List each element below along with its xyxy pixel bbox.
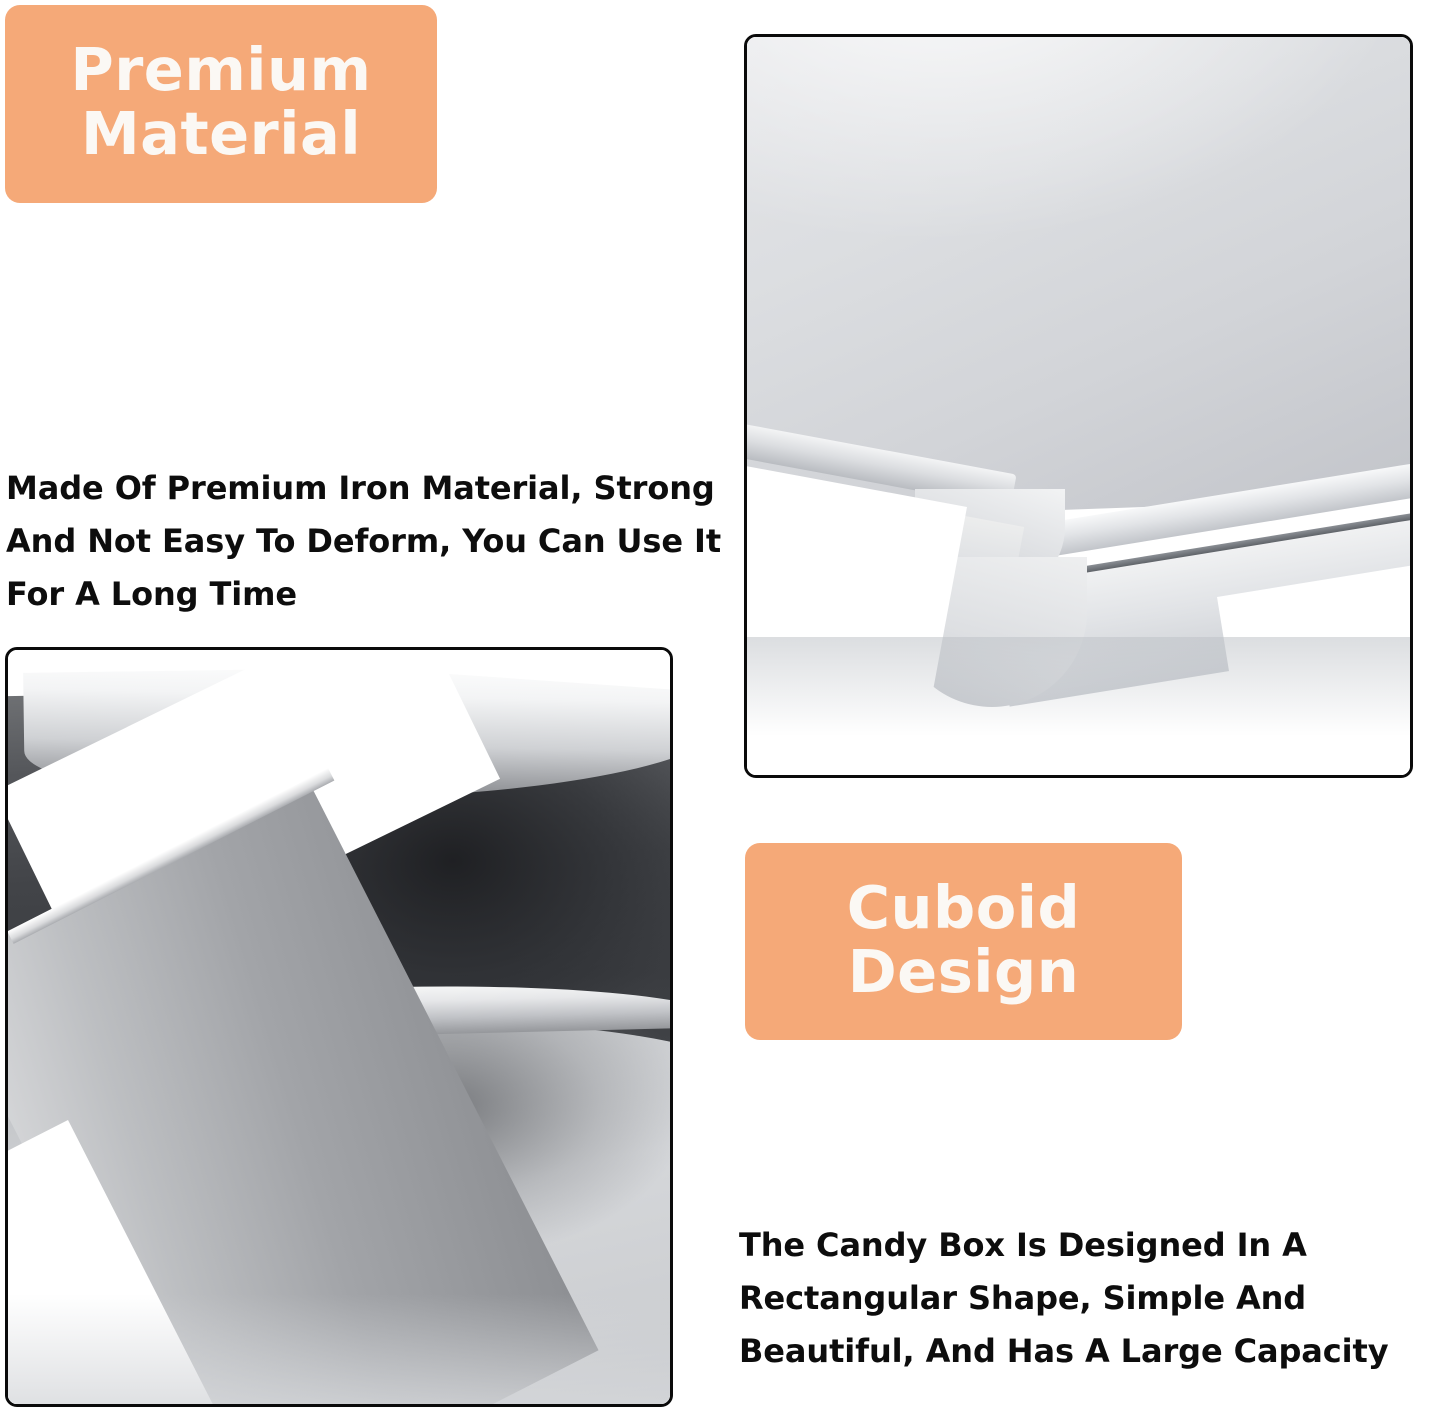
product-photo-open-tin-interior (5, 647, 673, 1407)
feature-badge-premium-material: Premium Material (5, 5, 437, 203)
tin-bottom-fade (8, 1294, 670, 1404)
product-photo-closed-tin-lid (744, 34, 1413, 778)
badge-line-1: Cuboid (847, 876, 1081, 940)
feature-description-premium-material: Made Of Premium Iron Material, Strong An… (6, 462, 746, 621)
badge-line-1: Premium (70, 38, 371, 102)
badge-line-2: Material (81, 102, 361, 166)
feature-description-cuboid-design: The Candy Box Is Designed In A Rectangul… (739, 1219, 1445, 1378)
badge-line-2: Design (848, 940, 1080, 1004)
feature-badge-cuboid-design: Cuboid Design (745, 843, 1182, 1040)
photo-inner-lid (747, 37, 1410, 775)
photo-inner-open-tin (8, 650, 670, 1404)
tin-base-shadow (747, 637, 1410, 775)
